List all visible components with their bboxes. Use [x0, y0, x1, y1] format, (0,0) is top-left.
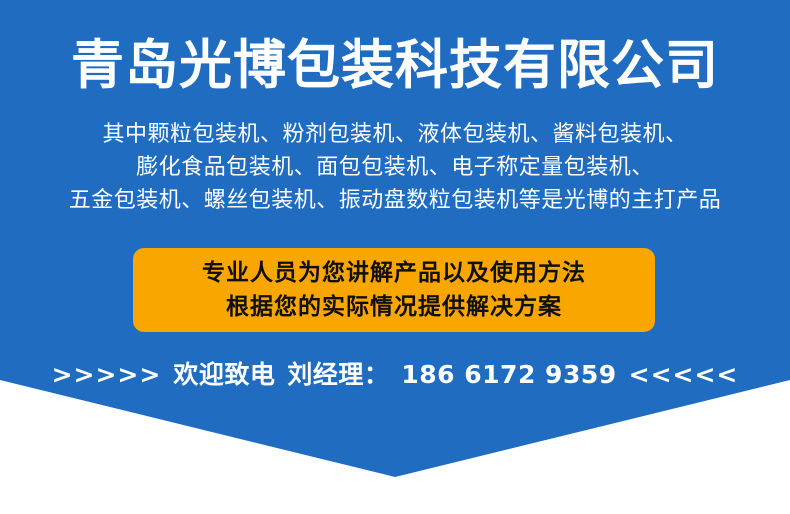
product-description-line-1: 其中颗粒包装机、粉剂包装机、液体包装机、酱料包装机、 [0, 118, 790, 151]
company-promo-banner: 青岛光博包装科技有限公司 其中颗粒包装机、粉剂包装机、液体包装机、酱料包装机、 … [0, 0, 790, 514]
contact-phone-number[interactable]: 186 6172 9359 [401, 360, 616, 390]
product-description-block: 其中颗粒包装机、粉剂包装机、液体包装机、酱料包装机、 膨化食品包装机、面包包装机… [0, 118, 790, 217]
contact-person-name: 刘经理： [287, 360, 389, 390]
right-arrows-icon: <<<<< [629, 360, 739, 390]
service-callout-box: 专业人员为您讲解产品以及使用方法 根据您的实际情况提供解决方案 [133, 248, 655, 332]
left-arrows-icon: >>>>> [52, 360, 162, 390]
contact-call-label: 欢迎致电 [173, 360, 275, 390]
service-callout-line-2: 根据您的实际情况提供解决方案 [226, 290, 562, 324]
company-title: 青岛光博包装科技有限公司 [0, 34, 790, 98]
banner-content: 青岛光博包装科技有限公司 其中颗粒包装机、粉剂包装机、液体包装机、酱料包装机、 … [0, 0, 790, 514]
product-description-line-2: 膨化食品包装机、面包包装机、电子称定量包装机、 [0, 151, 790, 184]
contact-row: >>>>> 欢迎致电 刘经理： 186 6172 9359 <<<<< [0, 360, 790, 390]
product-description-line-3: 五金包装机、螺丝包装机、振动盘数粒包装机等是光博的主打产品 [0, 184, 790, 217]
service-callout-line-1: 专业人员为您讲解产品以及使用方法 [202, 256, 586, 290]
